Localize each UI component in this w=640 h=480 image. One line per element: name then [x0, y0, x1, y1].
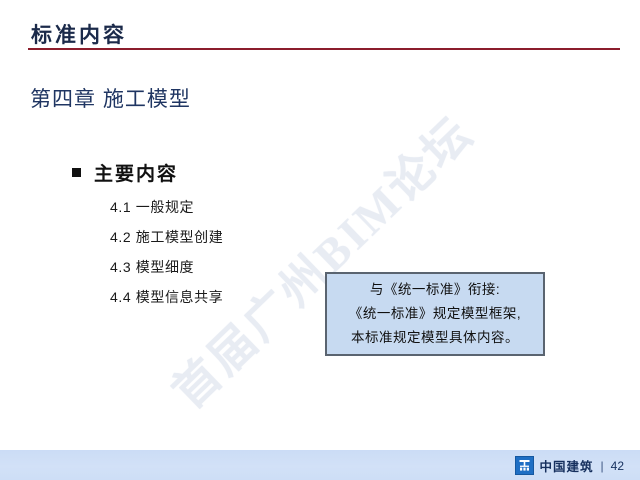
slide-canvas: 首届广州BIM论坛 标准内容 第四章 施工模型 主要内容 4.1 一般规定 4.…	[0, 0, 640, 480]
cscec-logo-icon	[515, 456, 534, 475]
list-item: 4.1 一般规定	[110, 192, 223, 222]
footer-separator: |	[600, 459, 605, 473]
main-bullet-row: 主要内容	[72, 159, 178, 186]
callout-line: 《统一标准》规定模型框架,	[349, 302, 521, 326]
sub-item-list: 4.1 一般规定 4.2 施工模型创建 4.3 模型细度 4.4 模型信息共享	[110, 192, 223, 312]
list-item: 4.4 模型信息共享	[110, 282, 223, 312]
main-bullet-label: 主要内容	[94, 159, 178, 186]
callout-line: 本标准规定模型具体内容。	[351, 326, 519, 350]
callout-line: 与《统一标准》衔接:	[370, 278, 500, 302]
filled-square-bullet-icon	[72, 168, 81, 177]
header-divider	[28, 48, 620, 50]
list-item: 4.3 模型细度	[110, 252, 223, 282]
page-number: 42	[611, 459, 624, 473]
page-title: 标准内容	[31, 19, 127, 49]
chapter-heading: 第四章 施工模型	[30, 83, 191, 113]
footer-brand: 中国建筑 | 42	[515, 456, 625, 475]
list-item: 4.2 施工模型创建	[110, 222, 223, 252]
callout-box: 与《统一标准》衔接: 《统一标准》规定模型框架, 本标准规定模型具体内容。	[325, 272, 545, 356]
brand-name: 中国建筑	[540, 456, 594, 475]
